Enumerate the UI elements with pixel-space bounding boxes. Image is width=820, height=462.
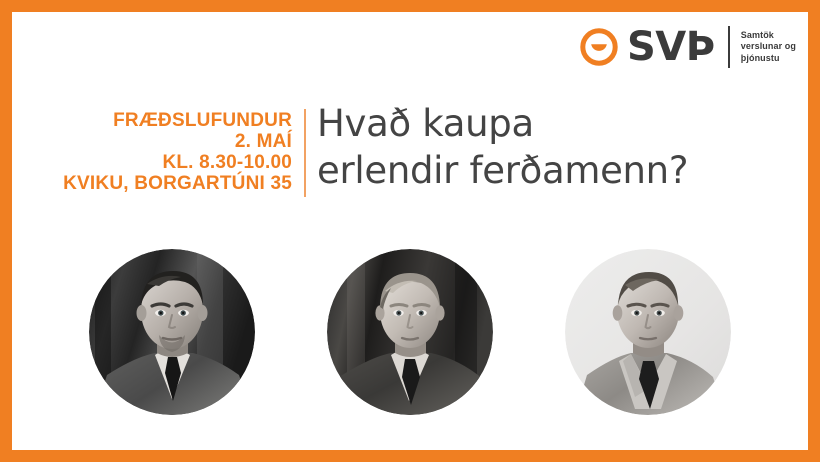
event-kind: FRÆÐSLUFUNDUR <box>12 110 292 131</box>
headline-line-1: Hvað kaupa <box>317 100 787 147</box>
event-venue: KVIKU, BORGARTÚNI 35 <box>12 173 292 194</box>
logo-divider <box>728 26 730 68</box>
svp-logo: SVÞ Samtök verslunar og þjónustu <box>579 19 796 75</box>
event-poster: SVÞ Samtök verslunar og þjónustu FRÆÐSLU… <box>0 0 820 462</box>
speaker-3-avatar <box>565 249 731 415</box>
svp-wordmark: SVÞ <box>627 27 715 67</box>
speaker-1-avatar <box>89 249 255 415</box>
event-time: KL. 8.30-10.00 <box>12 152 292 173</box>
speaker-2-avatar <box>327 249 493 415</box>
event-date: 2. MAÍ <box>12 131 292 152</box>
event-details: FRÆÐSLUFUNDUR 2. MAÍ KL. 8.30-10.00 KVIK… <box>12 110 292 194</box>
svp-tagline: Samtök verslunar og þjónustu <box>741 30 796 65</box>
svp-smile-circle-icon <box>579 27 619 67</box>
title-band: FRÆÐSLUFUNDUR 2. MAÍ KL. 8.30-10.00 KVIK… <box>12 98 808 208</box>
speaker-portraits <box>12 249 808 429</box>
vertical-divider <box>304 109 306 197</box>
poster-canvas: SVÞ Samtök verslunar og þjónustu FRÆÐSLU… <box>12 12 808 450</box>
headline-line-2: erlendir ferðamenn? <box>317 147 787 194</box>
page-title: Hvað kaupa erlendir ferðamenn? <box>317 100 787 194</box>
